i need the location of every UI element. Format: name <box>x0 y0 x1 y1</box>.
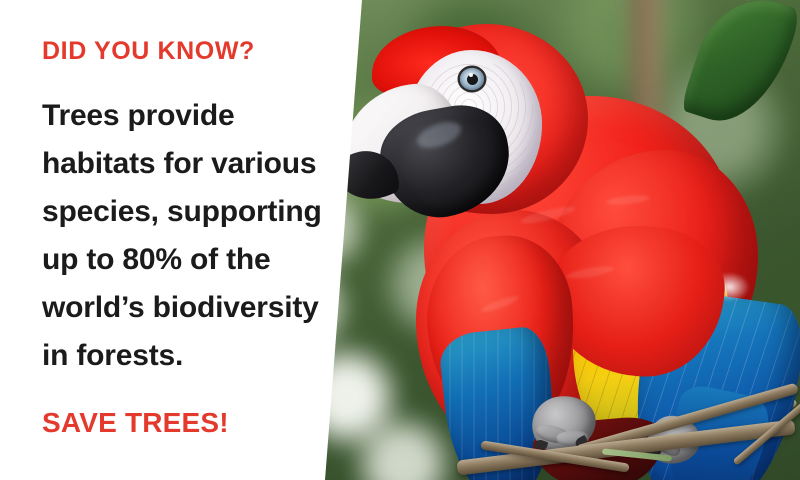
scarlet-macaw <box>320 0 800 480</box>
text-panel: DID YOU KNOW? Trees provide habitats for… <box>0 0 380 480</box>
macaw-photo <box>320 0 800 480</box>
did-you-know-banner: DID YOU KNOW? Trees provide habitats for… <box>0 0 800 480</box>
cta-text: SAVE TREES! <box>42 406 322 440</box>
macaw-eye-glint <box>469 73 473 77</box>
eyebrow-heading: DID YOU KNOW? <box>42 36 322 66</box>
text-block: DID YOU KNOW? Trees provide habitats for… <box>42 36 322 440</box>
body-copy: Trees provide habitats for various speci… <box>42 92 322 380</box>
